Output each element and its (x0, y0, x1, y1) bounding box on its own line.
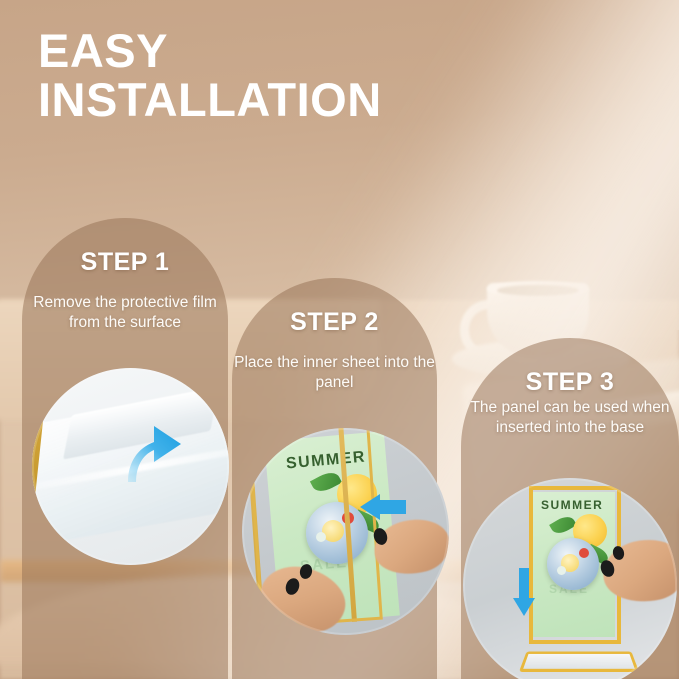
page-title-line-1: EASY (38, 26, 382, 75)
step-1-photo (32, 368, 229, 565)
page-title: EASY INSTALLATION (38, 26, 382, 125)
product-infographic: EASY INSTALLATION STEP 1 Remove the prot… (0, 0, 679, 679)
page-title-line-2: INSTALLATION (38, 75, 382, 124)
step-2-photo: SUMMER SALE (242, 428, 449, 635)
step-1-title: STEP 1 (22, 248, 228, 277)
photo-3-edge (463, 478, 677, 679)
step-3-photo: SUMMER SALE (463, 478, 677, 679)
photo-2-edge (242, 428, 449, 635)
step-3-title: STEP 3 (461, 368, 679, 397)
step-1-description: Remove the protective film from the surf… (22, 293, 228, 333)
step-2-description: Place the inner sheet into the panel (232, 353, 437, 393)
step-2-title: STEP 2 (232, 308, 437, 337)
photo-1-edge (32, 368, 229, 565)
step-3-description: The panel can be used when inserted into… (461, 398, 679, 438)
